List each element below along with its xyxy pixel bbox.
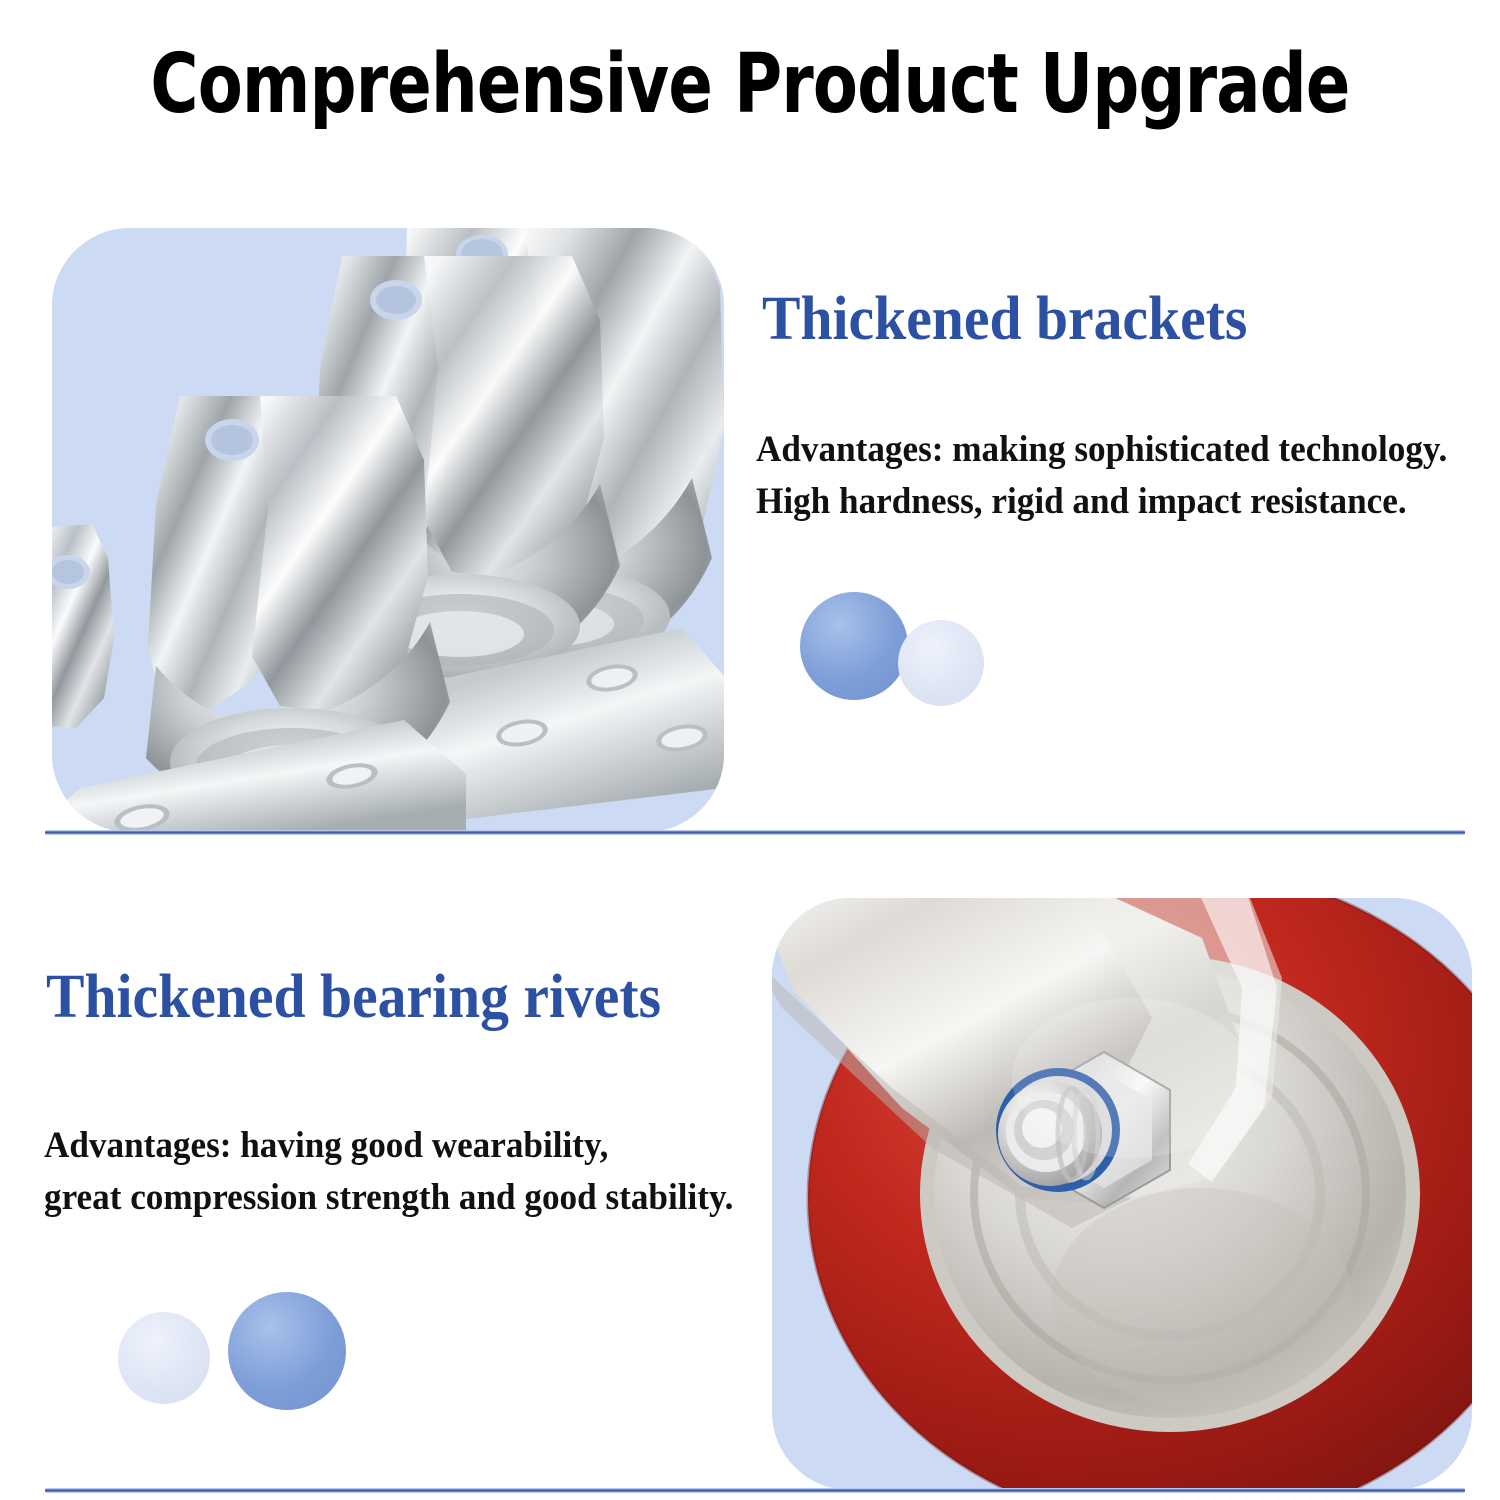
section-divider-middle: [45, 830, 1465, 835]
section-body-rivets: Advantages: having good wearability, gre…: [44, 1120, 733, 1224]
brackets-photo-clip: [52, 228, 724, 832]
wheel-photo-clip: [772, 898, 1472, 1490]
decorative-circle-pale: [898, 620, 984, 706]
chrome-caster-brackets-photo: [52, 228, 724, 832]
decorative-circle-blue: [800, 592, 908, 700]
decorative-circle-blue: [228, 1292, 346, 1410]
wheel-photo-panel: [772, 898, 1472, 1490]
rivets-body-line-1: Advantages: having good wearability,: [44, 1120, 733, 1172]
section-heading-rivets: Thickened bearing rivets: [46, 962, 661, 1032]
brackets-body-line-1: Advantages: making sophisticated technol…: [756, 424, 1447, 476]
decorative-circle-pale: [118, 1312, 210, 1404]
section-heading-brackets: Thickened brackets: [762, 284, 1247, 354]
red-polyurethane-wheel-photo: [772, 898, 1472, 1490]
brackets-photo-panel: [52, 228, 724, 832]
brackets-body-line-2: High hardness, rigid and impact resistan…: [756, 476, 1447, 528]
rivets-body-line-2: great compression strength and good stab…: [44, 1172, 733, 1224]
section-body-brackets: Advantages: making sophisticated technol…: [756, 424, 1447, 528]
page-title: Comprehensive Product Upgrade: [150, 40, 1350, 130]
section-divider-bottom: [45, 1488, 1465, 1493]
